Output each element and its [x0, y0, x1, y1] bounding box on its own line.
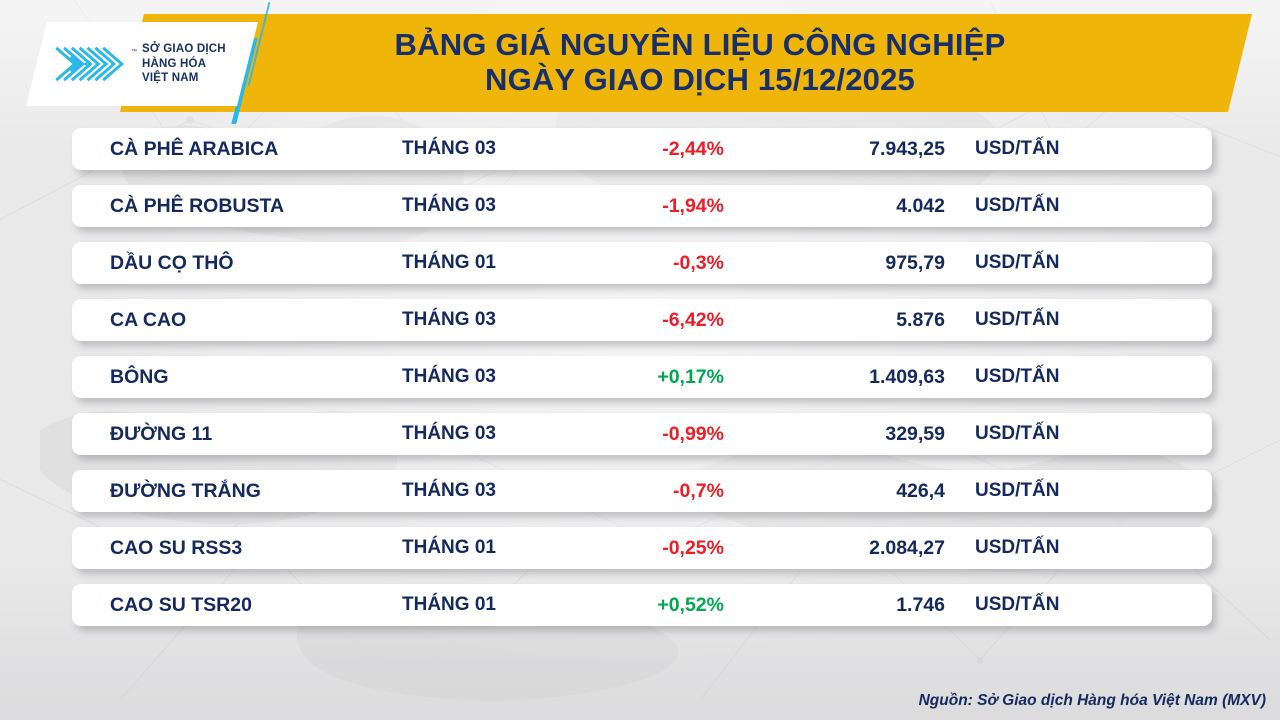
- change-percent: +0,17%: [562, 366, 724, 389]
- page-header: ™ SỞ GIAO DỊCH HÀNG HÓA VIỆT NAM BẢNG GI…: [0, 0, 1280, 128]
- price-value: 5.876: [732, 309, 945, 332]
- commodity-name: CAO SU TSR20: [110, 594, 252, 617]
- trademark-symbol: ™: [131, 49, 137, 55]
- commodity-name: CA CAO: [110, 309, 186, 332]
- price-unit: USD/TẤN: [975, 366, 1059, 388]
- contract-month: THÁNG 03: [402, 366, 496, 388]
- price-value: 2.084,27: [732, 537, 945, 560]
- price-value: 426,4: [732, 480, 945, 503]
- logo-card: ™ SỞ GIAO DỊCH HÀNG HÓA VIỆT NAM: [26, 22, 258, 106]
- logo-line-1: SỞ GIAO DỊCH: [142, 42, 226, 57]
- source-note: Nguồn: Sở Giao dịch Hàng hóa Việt Nam (M…: [919, 692, 1266, 710]
- change-percent: -2,44%: [562, 138, 724, 161]
- title-line-1: BẢNG GIÁ NGUYÊN LIỆU CÔNG NGHIỆP: [395, 28, 1006, 63]
- change-percent: -6,42%: [562, 309, 724, 332]
- commodity-name: ĐƯỜNG 11: [110, 423, 212, 446]
- price-unit: USD/TẤN: [975, 594, 1059, 616]
- table-row[interactable]: ĐƯỜNG 11THÁNG 03-0,99%329,59USD/TẤN: [72, 413, 1212, 455]
- price-value: 975,79: [732, 252, 945, 275]
- price-value: 1.746: [732, 594, 945, 617]
- change-percent: -0,3%: [562, 252, 724, 275]
- change-percent: -0,25%: [562, 537, 724, 560]
- table-row[interactable]: CA CAOTHÁNG 03-6,42%5.876USD/TẤN: [72, 299, 1212, 341]
- mxv-maze-logo-icon: [52, 42, 126, 86]
- commodity-name: CÀ PHÊ ARABICA: [110, 138, 278, 161]
- contract-month: THÁNG 03: [402, 138, 496, 160]
- change-percent: -0,7%: [562, 480, 724, 503]
- commodity-name: CÀ PHÊ ROBUSTA: [110, 195, 284, 218]
- contract-month: THÁNG 01: [402, 594, 496, 616]
- contract-month: THÁNG 01: [402, 537, 496, 559]
- price-unit: USD/TẤN: [975, 252, 1059, 274]
- logo-line-3: VIỆT NAM: [142, 71, 226, 86]
- price-table: CÀ PHÊ ARABICATHÁNG 03-2,44%7.943,25USD/…: [0, 128, 1280, 626]
- logo-line-2: HÀNG HÓA: [142, 57, 226, 72]
- contract-month: THÁNG 03: [402, 480, 496, 502]
- table-row[interactable]: DẦU CỌ THÔTHÁNG 01-0,3%975,79USD/TẤN: [72, 242, 1212, 284]
- contract-month: THÁNG 01: [402, 252, 496, 274]
- table-row[interactable]: CAO SU RSS3THÁNG 01-0,25%2.084,27USD/TẤN: [72, 527, 1212, 569]
- contract-month: THÁNG 03: [402, 309, 496, 331]
- price-unit: USD/TẤN: [975, 537, 1059, 559]
- price-unit: USD/TẤN: [975, 423, 1059, 445]
- page-title: BẢNG GIÁ NGUYÊN LIỆU CÔNG NGHIỆP NGÀY GI…: [250, 14, 1150, 112]
- price-unit: USD/TẤN: [975, 480, 1059, 502]
- change-percent: -1,94%: [562, 195, 724, 218]
- table-row[interactable]: CÀ PHÊ ARABICATHÁNG 03-2,44%7.943,25USD/…: [72, 128, 1212, 170]
- price-unit: USD/TẤN: [975, 138, 1059, 160]
- price-unit: USD/TẤN: [975, 309, 1059, 331]
- price-value: 4.042: [732, 195, 945, 218]
- contract-month: THÁNG 03: [402, 423, 496, 445]
- table-row[interactable]: ĐƯỜNG TRẮNGTHÁNG 03-0,7%426,4USD/TẤN: [72, 470, 1212, 512]
- change-percent: -0,99%: [562, 423, 724, 446]
- commodity-name: ĐƯỜNG TRẮNG: [110, 480, 261, 503]
- title-line-2: NGÀY GIAO DỊCH 15/12/2025: [485, 63, 915, 98]
- commodity-name: CAO SU RSS3: [110, 537, 242, 560]
- contract-month: THÁNG 03: [402, 195, 496, 217]
- commodity-name: BÔNG: [110, 366, 169, 389]
- price-value: 7.943,25: [732, 138, 945, 161]
- price-unit: USD/TẤN: [975, 195, 1059, 217]
- price-value: 329,59: [732, 423, 945, 446]
- change-percent: +0,52%: [562, 594, 724, 617]
- commodity-name: DẦU CỌ THÔ: [110, 252, 234, 275]
- price-value: 1.409,63: [732, 366, 945, 389]
- table-row[interactable]: BÔNGTHÁNG 03+0,17%1.409,63USD/TẤN: [72, 356, 1212, 398]
- table-row[interactable]: CÀ PHÊ ROBUSTATHÁNG 03-1,94%4.042USD/TẤN: [72, 185, 1212, 227]
- logo-wordmark: SỞ GIAO DỊCH HÀNG HÓA VIỆT NAM: [142, 42, 226, 86]
- table-row[interactable]: CAO SU TSR20THÁNG 01+0,52%1.746USD/TẤN: [72, 584, 1212, 626]
